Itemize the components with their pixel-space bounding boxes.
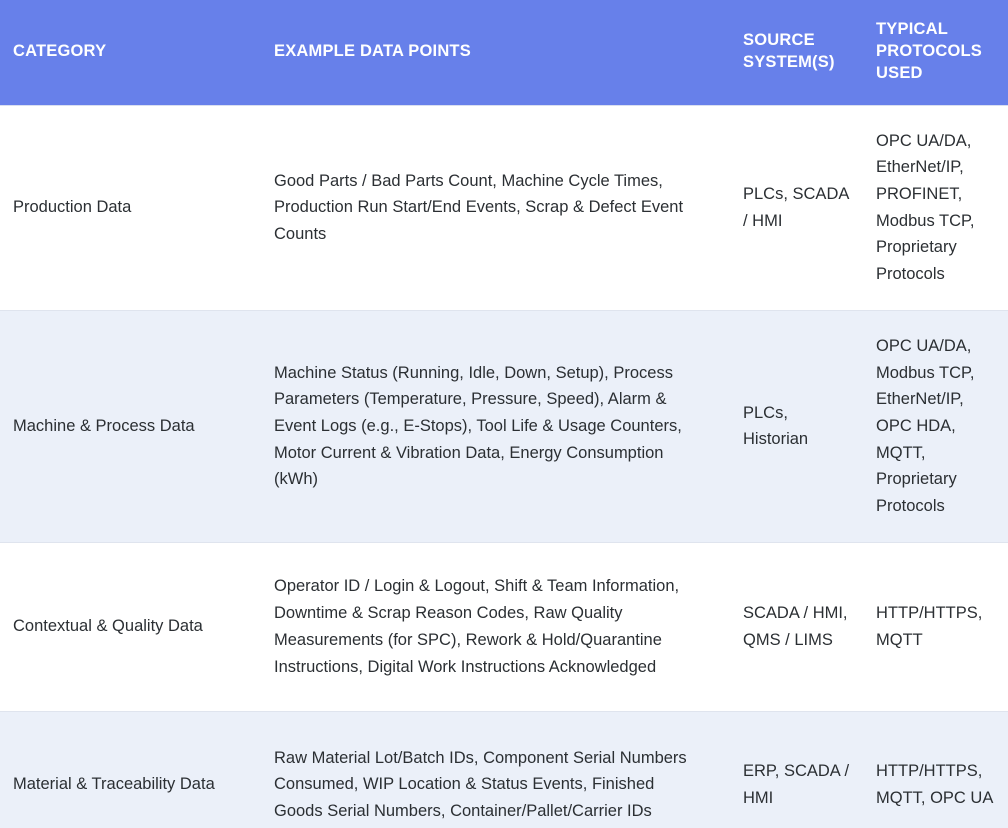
column-header-example-data-points[interactable]: EXAMPLE DATA POINTS <box>258 0 730 105</box>
cell-examples: Raw Material Lot/Batch IDs, Component Se… <box>258 711 730 828</box>
header-row: CATEGORY EXAMPLE DATA POINTS SOURCE SYST… <box>0 0 1008 105</box>
cell-category: Production Data <box>0 105 258 310</box>
cell-category: Machine & Process Data <box>0 310 258 542</box>
table-header: CATEGORY EXAMPLE DATA POINTS SOURCE SYST… <box>0 0 1008 105</box>
column-header-source-systems[interactable]: SOURCE SYSTEM(S) <box>730 0 862 105</box>
cell-examples: Machine Status (Running, Idle, Down, Set… <box>258 310 730 542</box>
cell-category: Material & Traceability Data <box>0 711 258 828</box>
table-row: Material & Traceability Data Raw Materia… <box>0 711 1008 828</box>
column-header-category[interactable]: CATEGORY <box>0 0 258 105</box>
table-row: Contextual & Quality Data Operator ID / … <box>0 542 1008 711</box>
cell-examples: Good Parts / Bad Parts Count, Machine Cy… <box>258 105 730 310</box>
table-row: Production Data Good Parts / Bad Parts C… <box>0 105 1008 310</box>
data-table: CATEGORY EXAMPLE DATA POINTS SOURCE SYST… <box>0 0 1008 828</box>
table-container: CATEGORY EXAMPLE DATA POINTS SOURCE SYST… <box>0 0 1008 828</box>
cell-source: SCADA / HMI, QMS / LIMS <box>730 542 862 711</box>
cell-protocols: HTTP/HTTPS, MQTT, OPC UA <box>862 711 1008 828</box>
column-header-typical-protocols-used[interactable]: TYPICAL PROTOCOLS USED <box>862 0 1008 105</box>
cell-protocols: HTTP/HTTPS, MQTT <box>862 542 1008 711</box>
cell-source: ERP, SCADA / HMI <box>730 711 862 828</box>
cell-source: PLCs, Historian <box>730 310 862 542</box>
cell-source: PLCs, SCADA / HMI <box>730 105 862 310</box>
table-body: Production Data Good Parts / Bad Parts C… <box>0 105 1008 828</box>
cell-protocols: OPC UA/DA, Modbus TCP, EtherNet/IP, OPC … <box>862 310 1008 542</box>
cell-examples: Operator ID / Login & Logout, Shift & Te… <box>258 542 730 711</box>
cell-category: Contextual & Quality Data <box>0 542 258 711</box>
cell-protocols: OPC UA/DA, EtherNet/IP, PROFINET, Modbus… <box>862 105 1008 310</box>
table-row: Machine & Process Data Machine Status (R… <box>0 310 1008 542</box>
